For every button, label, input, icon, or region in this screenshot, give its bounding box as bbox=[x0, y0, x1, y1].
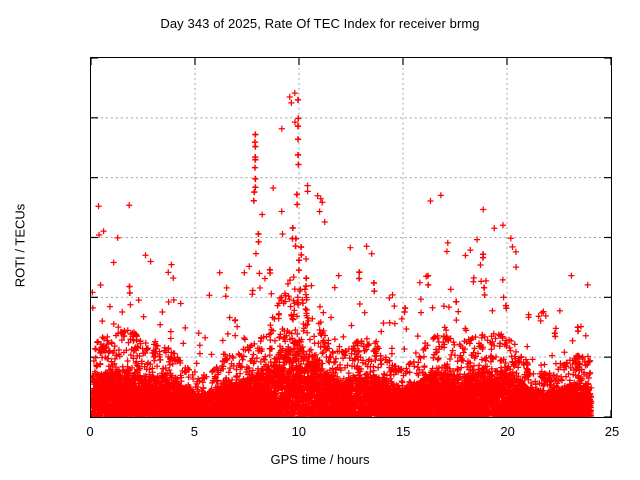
chart-title: Day 343 of 2025, Rate Of TEC Index for r… bbox=[0, 16, 640, 31]
x-axis-tick-label: 0 bbox=[86, 424, 93, 439]
x-axis-tick-label: 20 bbox=[500, 424, 514, 439]
chart-canvas: Day 343 of 2025, Rate Of TEC Index for r… bbox=[0, 0, 640, 480]
plot-area bbox=[90, 57, 612, 418]
x-axis-tick-label: 15 bbox=[396, 424, 410, 439]
x-axis-title: GPS time / hours bbox=[0, 452, 640, 467]
x-axis-tick-label: 10 bbox=[292, 424, 306, 439]
x-axis-tick-label: 25 bbox=[605, 424, 619, 439]
y-axis-title: ROTI / TECUs bbox=[13, 186, 28, 306]
x-axis-tick-label: 5 bbox=[191, 424, 198, 439]
scatter-series-roti bbox=[91, 58, 611, 417]
